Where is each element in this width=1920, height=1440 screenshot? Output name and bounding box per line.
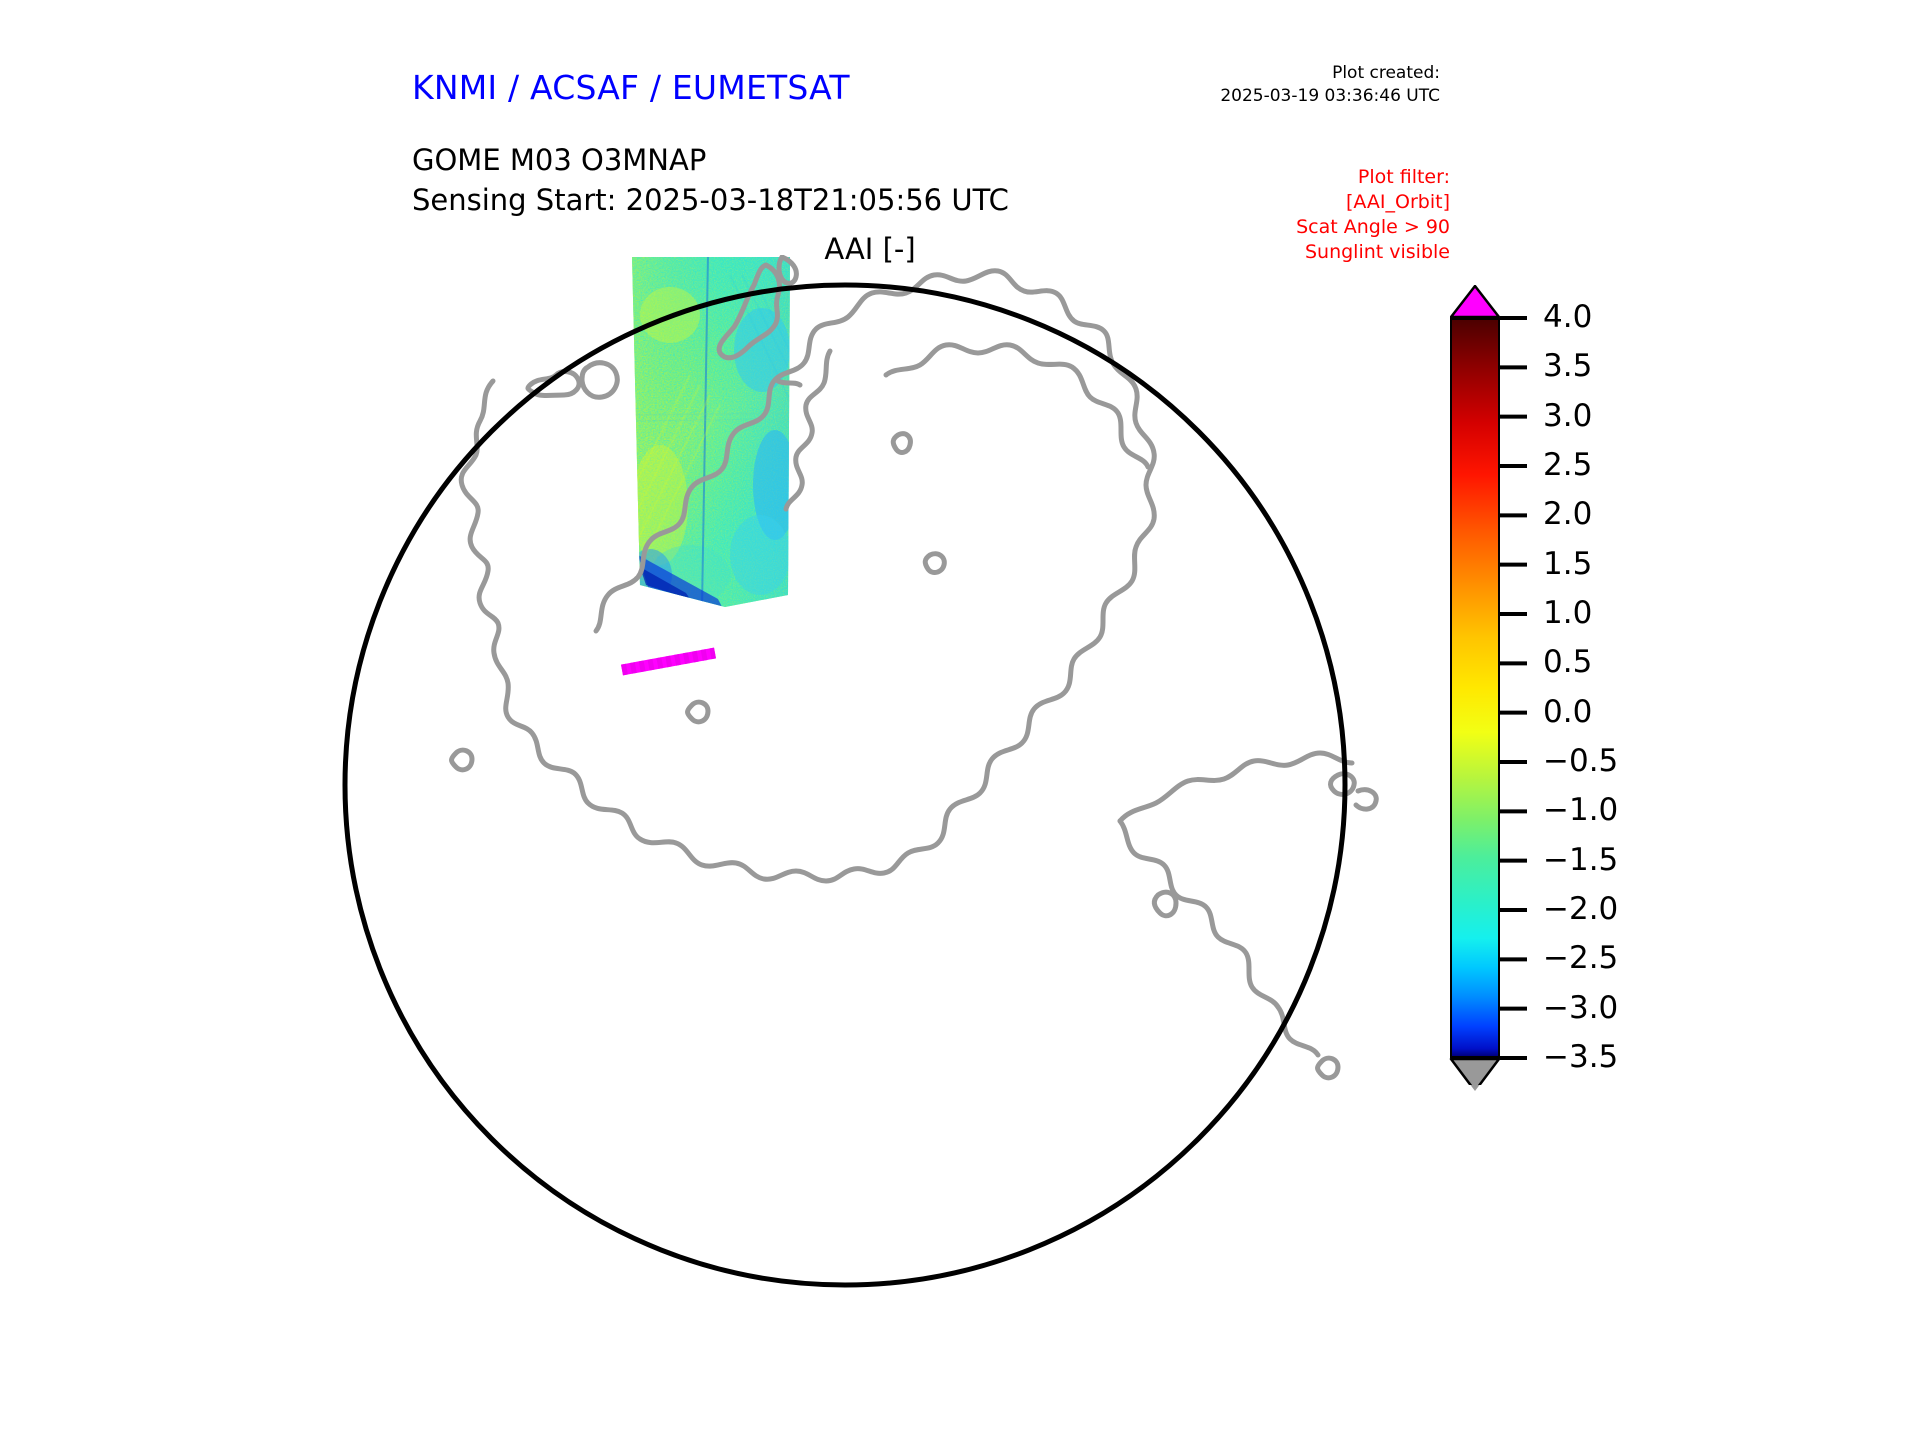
colorbar-tick-label: 1.0: [1543, 598, 1592, 629]
colorbar-tick-label: −3.5: [1543, 1042, 1618, 1073]
plot-filter-block: Plot filter: [AAI_Orbit] Scat Angle > 90…: [1160, 165, 1450, 265]
colorbar: 4.03.53.02.52.01.51.00.50.0−0.5−1.0−1.5−…: [1445, 285, 1865, 1085]
colorbar-tick-label: 3.5: [1543, 351, 1592, 382]
colorbar-tick-label: −1.5: [1543, 845, 1618, 876]
globe-boundary-circle: [345, 285, 1345, 1285]
colorbar-tick-label: 2.5: [1543, 450, 1592, 481]
product-name: GOME M03 O3MNAP: [412, 140, 1009, 180]
product-info-block: GOME M03 O3MNAP Sensing Start: 2025-03-1…: [412, 140, 1009, 220]
colorbar-tick-label: −0.5: [1543, 746, 1618, 777]
plot-created-label: Plot created:: [1150, 62, 1440, 85]
sunglint-saturated-streak: [622, 653, 715, 670]
south-america-coastline: [1120, 753, 1376, 1078]
colorbar-tick-label: −1.0: [1543, 795, 1618, 826]
colorbar-tick-label: −2.0: [1543, 894, 1618, 925]
plot-filter-scat-angle: Scat Angle > 90: [1160, 215, 1450, 240]
plot-created-timestamp: 2025-03-19 03:36:46 UTC: [1150, 85, 1440, 108]
plot-filter-variable: [AAI_Orbit]: [1160, 190, 1450, 215]
organisation-title: KNMI / ACSAF / EUMETSAT: [412, 68, 850, 107]
map-plot-area: [330, 255, 1440, 1315]
colorbar-tick-label: −3.0: [1543, 993, 1618, 1024]
satellite-swath-data: [625, 255, 800, 615]
colorbar-tick-label: 0.5: [1543, 647, 1592, 678]
colorbar-tick-label: −2.5: [1543, 943, 1618, 974]
colorbar-tick-label: 0.0: [1543, 697, 1592, 728]
plot-filter-label: Plot filter:: [1160, 165, 1450, 190]
colorbar-tick-label: 4.0: [1543, 302, 1592, 333]
colorbar-tick-label: 1.5: [1543, 549, 1592, 580]
colorbar-tick-label: 3.0: [1543, 401, 1592, 432]
colorbar-tick-label: 2.0: [1543, 499, 1592, 530]
colorbar-tick-marks: [1445, 285, 1865, 1085]
plot-created-block: Plot created: 2025-03-19 03:36:46 UTC: [1150, 62, 1440, 108]
sensing-start: Sensing Start: 2025-03-18T21:05:56 UTC: [412, 180, 1009, 220]
antarctica-coastline: [461, 271, 1154, 881]
